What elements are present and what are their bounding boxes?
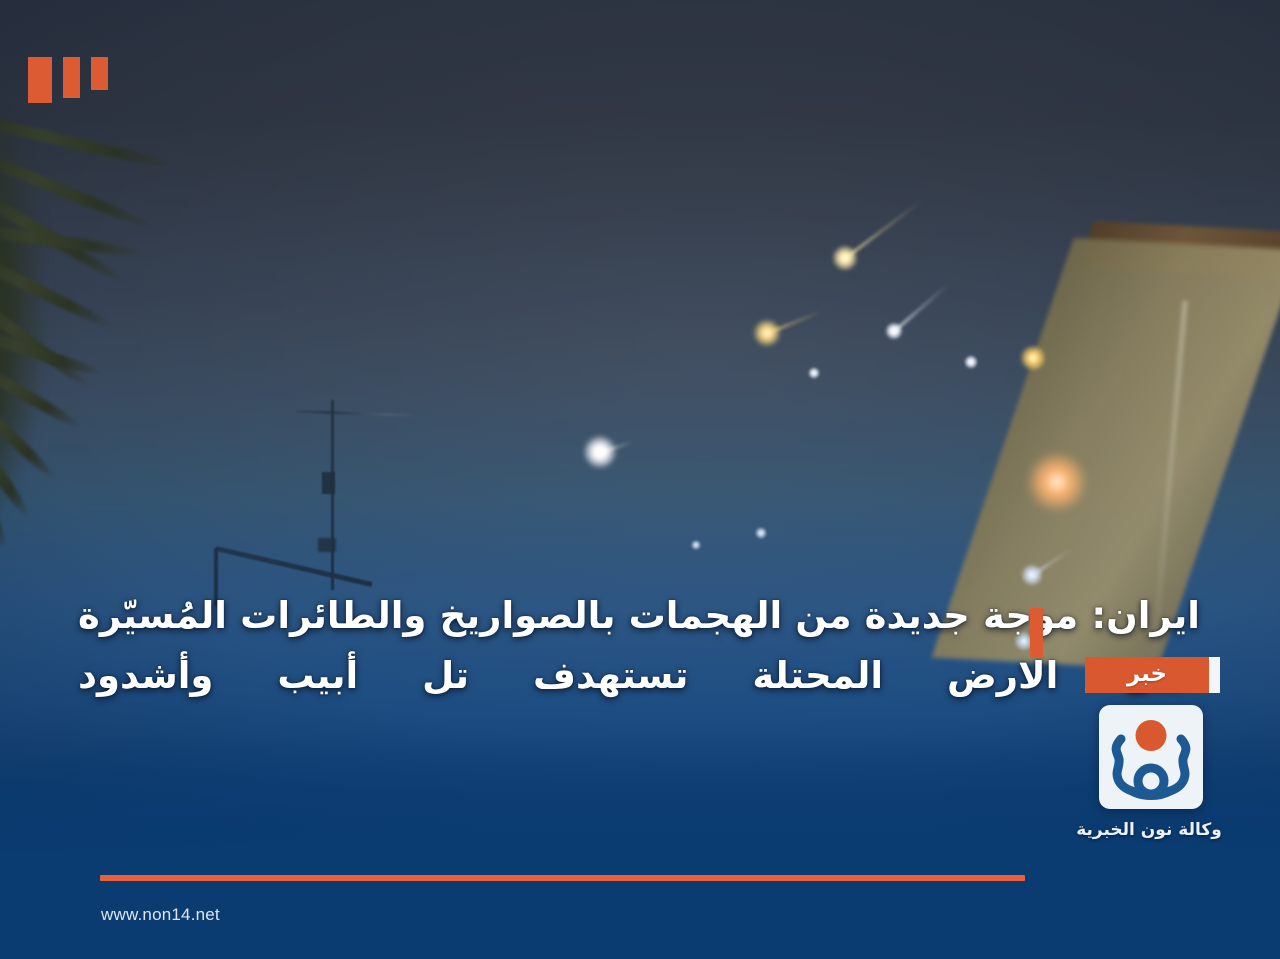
palm-fronds-silhouette xyxy=(0,95,220,525)
news-badge: خبر xyxy=(1085,657,1209,693)
news-badge-label: خبر xyxy=(1127,663,1167,686)
flare-white-center-trail xyxy=(600,441,633,454)
logo-noon-glyph-icon xyxy=(1099,705,1203,809)
site-url[interactable]: www.non14.net xyxy=(101,905,220,925)
flare-streak-center xyxy=(885,322,903,340)
flare-streak-center-trail xyxy=(893,283,949,333)
agency-name: وكالة نون الخبرية xyxy=(1073,820,1225,840)
flare-streak-upper xyxy=(832,245,858,271)
flare-white-center xyxy=(583,435,617,469)
brand-block: خبر وكالة نون الخبرية xyxy=(1085,657,1225,840)
flare-point-dim xyxy=(964,355,978,369)
flare-streak-upper-trail xyxy=(844,200,922,260)
noon-agency-logo-icon xyxy=(1099,705,1203,809)
orange-divider-icon xyxy=(100,875,1025,881)
flare-streak-mid-left xyxy=(753,319,781,347)
flare-point-small xyxy=(808,367,820,379)
antenna-box-lower xyxy=(318,538,336,552)
antenna-box xyxy=(322,472,335,494)
antenna-mast xyxy=(331,400,334,590)
three-orange-bars-icon xyxy=(28,57,108,103)
flare-streak-mid-left-trail xyxy=(766,310,823,335)
news-card: ايران: موجة جديدة من الهجمات بالصواريخ و… xyxy=(0,0,1280,959)
orange-accent-bar-icon xyxy=(1030,608,1043,658)
antenna-crossbar xyxy=(296,410,416,417)
